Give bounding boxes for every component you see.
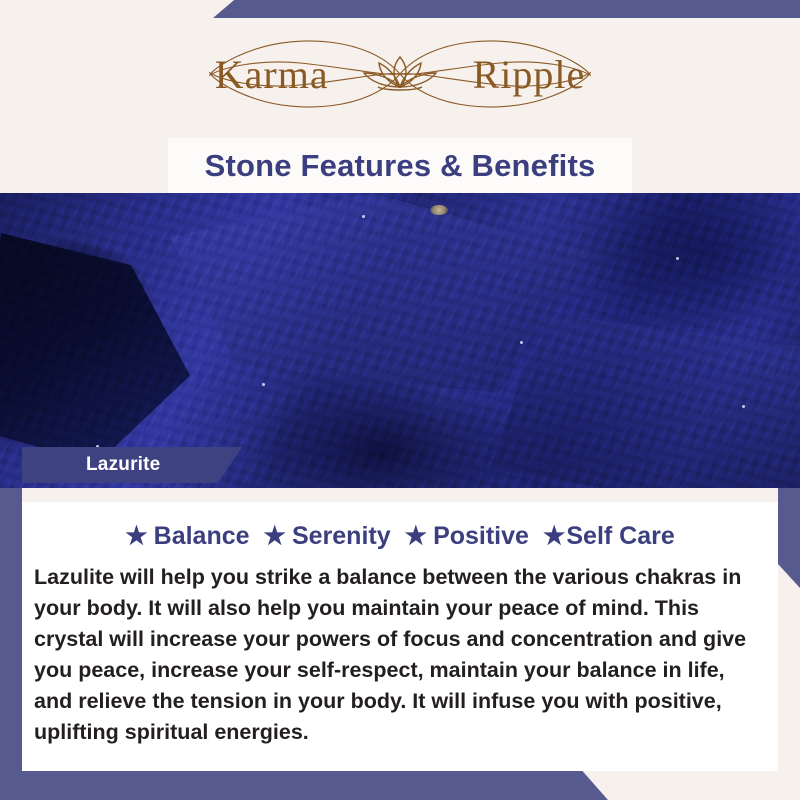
benefit-keyword-label: Positive xyxy=(433,522,529,551)
stone-texture-overlay xyxy=(0,193,800,488)
description-card: ★ Balance ★ Serenity ★ Positive ★ Self C… xyxy=(22,488,778,771)
benefit-keyword-list: ★ Balance ★ Serenity ★ Positive ★ Self C… xyxy=(22,522,778,551)
logo-word-ripple: Ripple xyxy=(473,51,586,98)
stone-info-card: Karma Ripple Stone Features & Benefits L… xyxy=(0,0,800,800)
logo-word-karma: Karma xyxy=(215,51,329,98)
stone-inclusion-gold xyxy=(430,205,448,215)
stone-speck xyxy=(262,383,265,386)
stone-speck xyxy=(742,405,745,408)
stone-speck xyxy=(520,341,523,344)
benefit-keyword-self-care: ★ Self Care xyxy=(543,522,675,551)
benefit-keyword-positive: ★ Positive xyxy=(405,522,529,551)
star-icon: ★ xyxy=(125,524,147,549)
stone-speck xyxy=(676,257,679,260)
benefit-keyword-balance: ★ Balance xyxy=(125,522,249,551)
star-icon: ★ xyxy=(264,524,286,549)
benefit-keyword-serenity: ★ Serenity xyxy=(264,522,391,551)
right-accent-stripe xyxy=(778,488,800,588)
stone-description: Lazulite will help you strike a balance … xyxy=(34,562,758,748)
stone-name-label: Lazurite xyxy=(22,454,160,476)
stone-photo xyxy=(0,193,800,488)
stone-speck xyxy=(362,215,365,218)
star-icon: ★ xyxy=(405,524,427,549)
benefit-keyword-label: Serenity xyxy=(292,522,391,551)
title-banner: Stone Features & Benefits xyxy=(168,138,632,193)
card-top-strip xyxy=(22,488,778,502)
page-title: Stone Features & Benefits xyxy=(205,148,596,184)
stone-name-banner: Lazurite xyxy=(22,447,242,483)
left-accent-stripe xyxy=(0,488,22,771)
benefit-keyword-label: Balance xyxy=(154,522,250,551)
star-icon: ★ xyxy=(543,524,565,549)
benefit-keyword-label: Self Care xyxy=(566,522,674,551)
top-accent-band xyxy=(213,0,800,18)
bottom-accent-band xyxy=(0,771,608,800)
brand-logo: Karma Ripple xyxy=(0,26,800,122)
